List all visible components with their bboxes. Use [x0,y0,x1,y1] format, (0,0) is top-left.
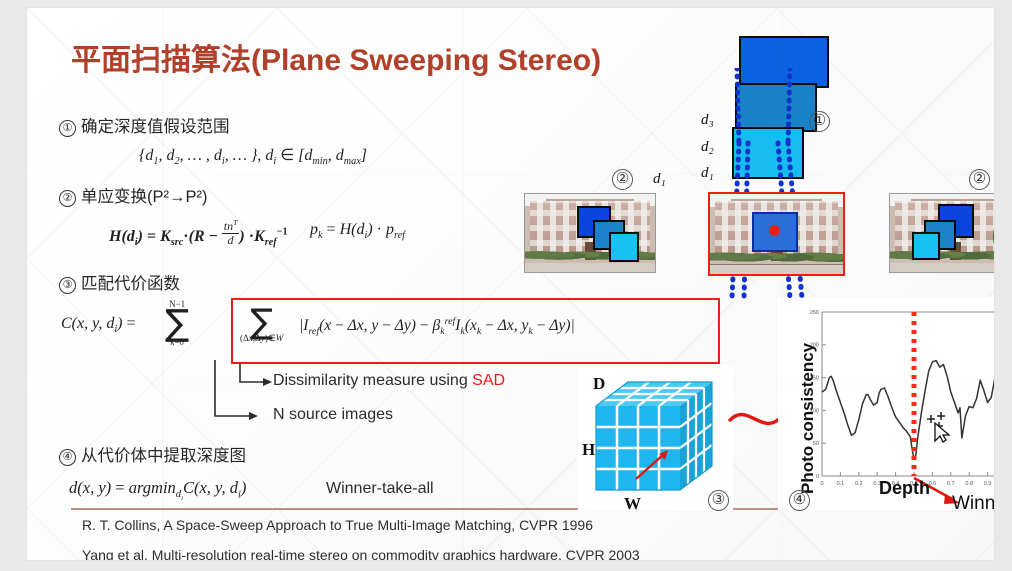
source-photo-right [889,193,994,273]
reference-2: Yang et al. Multi-resolution real-time s… [82,547,640,560]
svg-text:0.7: 0.7 [947,481,955,487]
cost-inner-sum: ∑ (Δx,Δy)∈W [240,305,283,350]
step-4-label: 从代价体中提取深度图 [81,447,246,465]
slide-page: 平面扫描算法(Plane Sweeping Stereo) ①确定深度值假设范围… [27,8,994,560]
formula-homography: H(di) = Ksrc·(R − tnT d ) ·Kref−1 [109,216,288,248]
chart-x-axis-label: Depth [879,478,930,499]
reference-photo-center [708,192,845,276]
depth-label-d1-mid: d₁ [653,171,666,188]
annotation-n-source: N source images [273,406,393,424]
step-4-number: ④ [59,449,76,466]
cost-outer-sum: N−1 ∑ k=0 [165,299,189,355]
step-3: ③匹配代价函数 [59,270,180,294]
marker-chart: ④ [789,490,810,511]
cube-label-width: W [624,494,641,514]
annotation-winner-take-all: Winner-take-all [326,480,434,498]
reference-pixel-dot [769,225,780,236]
source-photo-left [524,193,656,273]
annotation-dissimilarity: Dissimilarity measure using SAD [273,372,505,390]
photo-ground [890,263,994,272]
marker-photo-left: ② [612,169,633,190]
photo-ground [525,263,655,272]
svg-text:0.2: 0.2 [855,481,863,487]
annotation-dissimilarity-text: Dissimilarity measure using [273,372,472,389]
step-2-label: 单应变换(P²→P²) [81,188,208,206]
svg-text:0.1: 0.1 [837,481,845,487]
chart-y-axis-label: Photo consistency [798,343,818,494]
photo-ground [710,265,843,274]
marker-cube: ③ [708,490,729,511]
formula-depth-set: {d1, d2, … , di, … }, di ∈ [dmin, dmax] [139,145,367,167]
marker-photo-right: ② [969,169,990,190]
step-3-number: ③ [59,277,76,294]
cube-label-depth: D [593,374,605,394]
step-2-number: ② [59,190,76,207]
step-4: ④从代价体中提取深度图 [59,442,246,466]
formula-cost-lhs: C(x, y, di) = [61,315,136,335]
annotation-sad-label: SAD [472,372,505,389]
cube-label-height: H [582,440,595,460]
patch-d1-left [609,232,639,262]
slide-canvas: 平面扫描算法(Plane Sweeping Stereo) ①确定深度值假设范围… [0,0,1012,571]
step-1-number: ① [59,120,76,137]
page-title: 平面扫描算法(Plane Sweeping Stereo) [71,35,601,79]
cost-function-body: |Iref(x − Δx, y − Δy) − βkrefIk(xk − Δx,… [299,316,575,337]
svg-text:0.8: 0.8 [965,481,973,487]
formula-depth-map: d(x, y) = argmindiC(x, y, di) [69,478,246,502]
reference-1: R. T. Collins, A Space-Sweep Approach to… [82,517,593,533]
winner-label: Winner [952,493,994,515]
step-1-label: 确定深度值假设范围 [81,118,230,136]
step-2: ②单应变换(P²→P²) [59,183,208,207]
patch-d1-right [912,232,940,260]
formula-projection: pk = H(di) · pref [310,221,405,241]
svg-text:250: 250 [810,310,819,316]
step-1: ①确定深度值假设范围 [59,113,230,137]
svg-text:0.9: 0.9 [984,481,992,487]
svg-text:0: 0 [820,481,823,487]
photo-tree [991,213,994,260]
step-3-label: 匹配代价函数 [81,275,180,293]
